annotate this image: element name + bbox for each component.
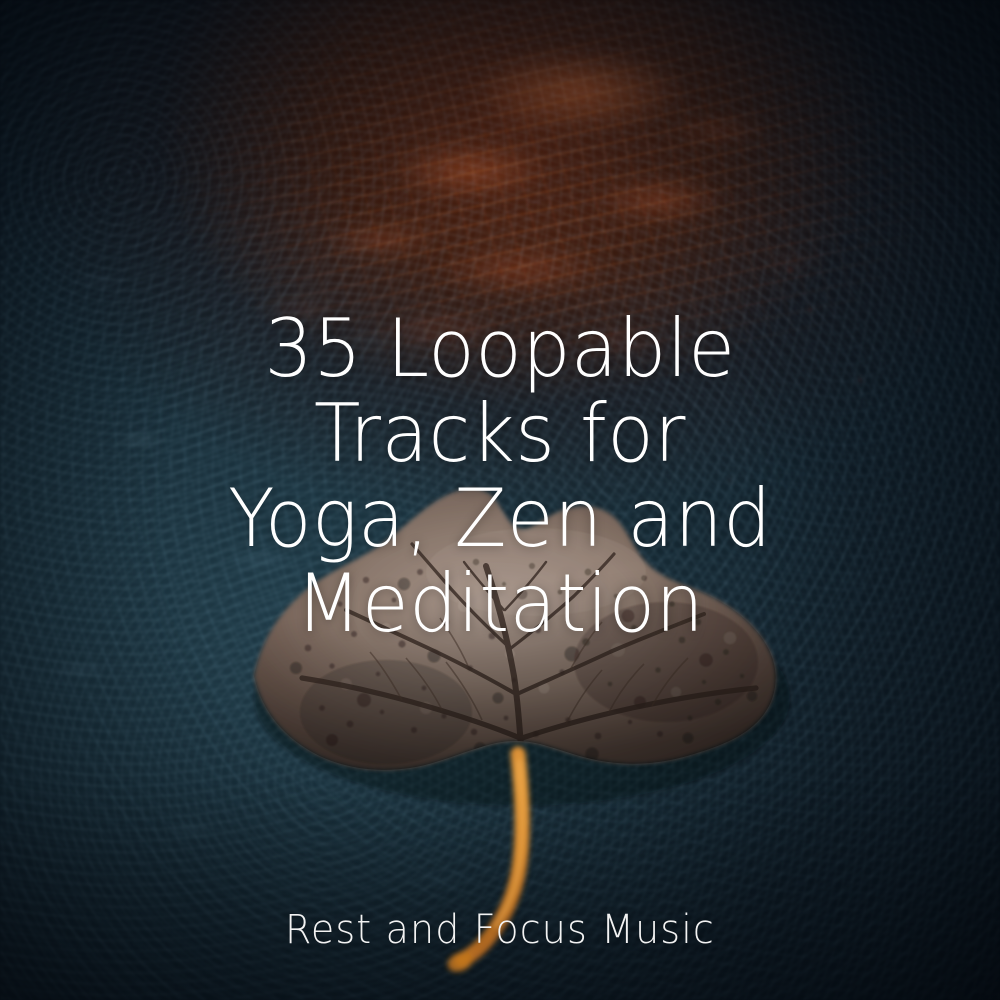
title-line-4: Meditation [25,561,975,646]
title-line-1: 35 Loopable [25,306,975,391]
artist-name: Rest and Focus Music [25,906,975,954]
title-line-3: Yoga, Zen and [25,476,975,561]
album-cover: 35 Loopable Tracks for Yoga, Zen and Med… [0,0,1000,1000]
album-title-block: 35 Loopable Tracks for Yoga, Zen and Med… [0,306,1000,646]
title-line-2: Tracks for [25,391,975,476]
